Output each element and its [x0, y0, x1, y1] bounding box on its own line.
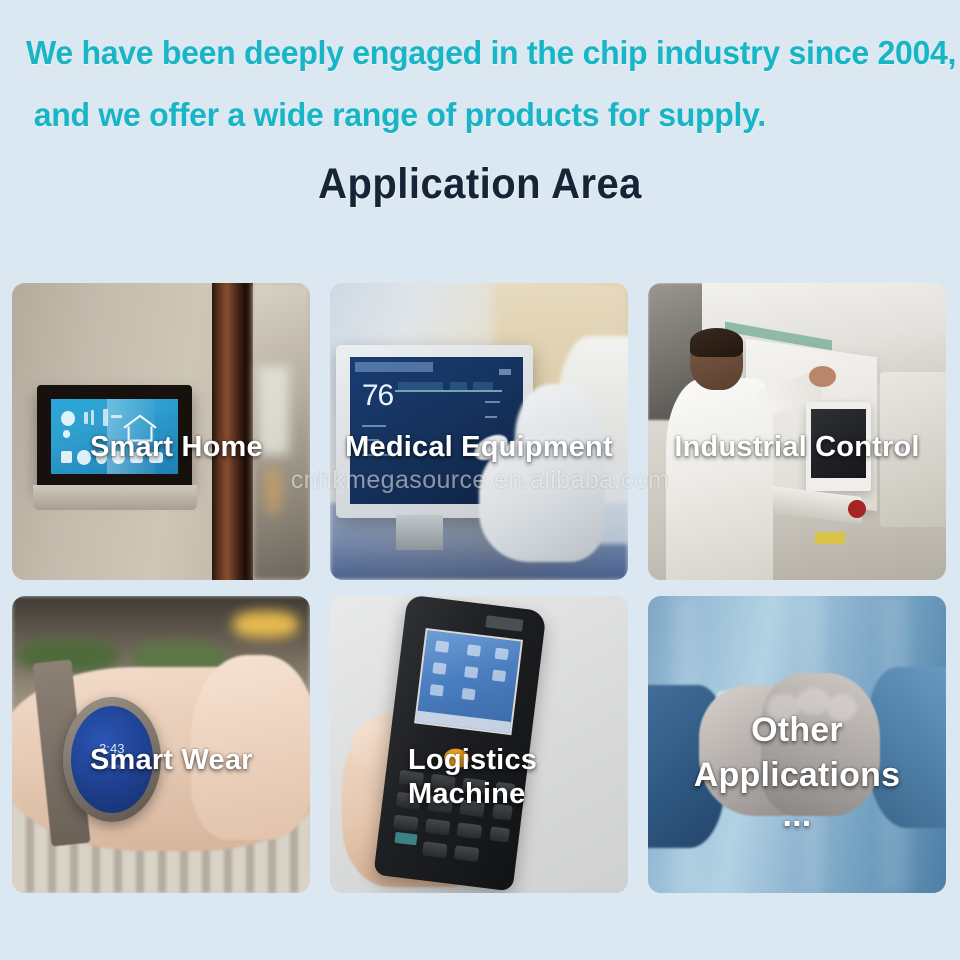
keypad-key — [454, 845, 479, 862]
background-light — [233, 611, 299, 638]
card-label-line-3: ... — [648, 798, 946, 832]
monitor-info-chip — [450, 382, 467, 389]
waveform-line — [395, 390, 502, 392]
card-label-smart-home: Smart Home — [12, 430, 310, 464]
card-medical-equipment[interactable]: 76 Medical Equipment — [330, 283, 628, 580]
card-label-smart-wear: Smart Wear — [12, 743, 310, 777]
room-lamp — [265, 467, 282, 515]
technician-hand — [809, 366, 836, 387]
application-area-grid: Smart Home 76 — [12, 283, 946, 893]
card-label-medical-equipment: Medical Equipment — [330, 430, 628, 464]
monitor-tick — [485, 401, 501, 403]
desktop-icon — [463, 666, 477, 679]
smart-panel-base — [33, 485, 197, 510]
card-label-line-1: Other — [751, 711, 843, 749]
keypad-key — [393, 815, 418, 832]
card-other-applications[interactable]: Other Applications ... — [648, 596, 946, 893]
yellow-marking — [815, 532, 845, 544]
headline-line-1: We have been deeply engaged in the chip … — [26, 22, 915, 84]
card-label-logistics-machine: Logistics Machine — [330, 743, 628, 811]
temp-bar-icon — [84, 412, 88, 424]
desktop-icon — [494, 648, 508, 661]
desktop-icon — [491, 670, 505, 683]
headline-line-2: and we offer a wide range of products fo… — [26, 84, 915, 146]
keypad-key — [457, 822, 482, 839]
monitor-stand — [396, 515, 444, 551]
monitor-tick — [485, 416, 497, 418]
desktop-icon — [429, 684, 443, 697]
temp-bar-icon — [91, 410, 95, 425]
section-title-wrap: Application Area — [0, 160, 960, 208]
card-industrial-control[interactable]: Industrial Control — [648, 283, 946, 580]
desktop-icon — [461, 688, 475, 701]
emergency-stop-button — [848, 500, 866, 518]
headline-block: We have been deeply engaged in the chip … — [0, 0, 960, 146]
card-label-industrial-control: Industrial Control — [648, 430, 946, 464]
terminal-screen — [414, 628, 523, 735]
card-logistics-machine[interactable]: Logistics Machine — [330, 596, 628, 893]
card-label-other-applications: Other Applications ... — [648, 708, 946, 832]
desktop-icon — [434, 640, 448, 653]
technician-hair — [690, 328, 744, 358]
monitor-info-chip — [398, 382, 443, 389]
card-smart-wear[interactable]: 3:43 Tuesday Smart Wear — [12, 596, 310, 893]
card-smart-home[interactable]: Smart Home — [12, 283, 310, 580]
battery-icon — [499, 369, 511, 375]
vital-reading: 76 — [362, 381, 393, 411]
page-title: Application Area — [318, 160, 642, 208]
keypad-key — [425, 819, 450, 836]
terminal-taskbar — [416, 711, 511, 733]
keypad-key — [422, 841, 447, 858]
card-label-line-2: Applications — [694, 756, 900, 794]
desktop-icon — [432, 662, 446, 675]
monitor-info-chip — [473, 382, 494, 389]
keypad-key — [489, 826, 510, 842]
function-key — [394, 832, 418, 846]
sun-icon — [61, 411, 75, 426]
monitor-status-bar — [355, 362, 433, 372]
monitor-tick — [362, 425, 386, 427]
desktop-icon — [466, 644, 480, 657]
speaker-grill — [485, 616, 523, 632]
